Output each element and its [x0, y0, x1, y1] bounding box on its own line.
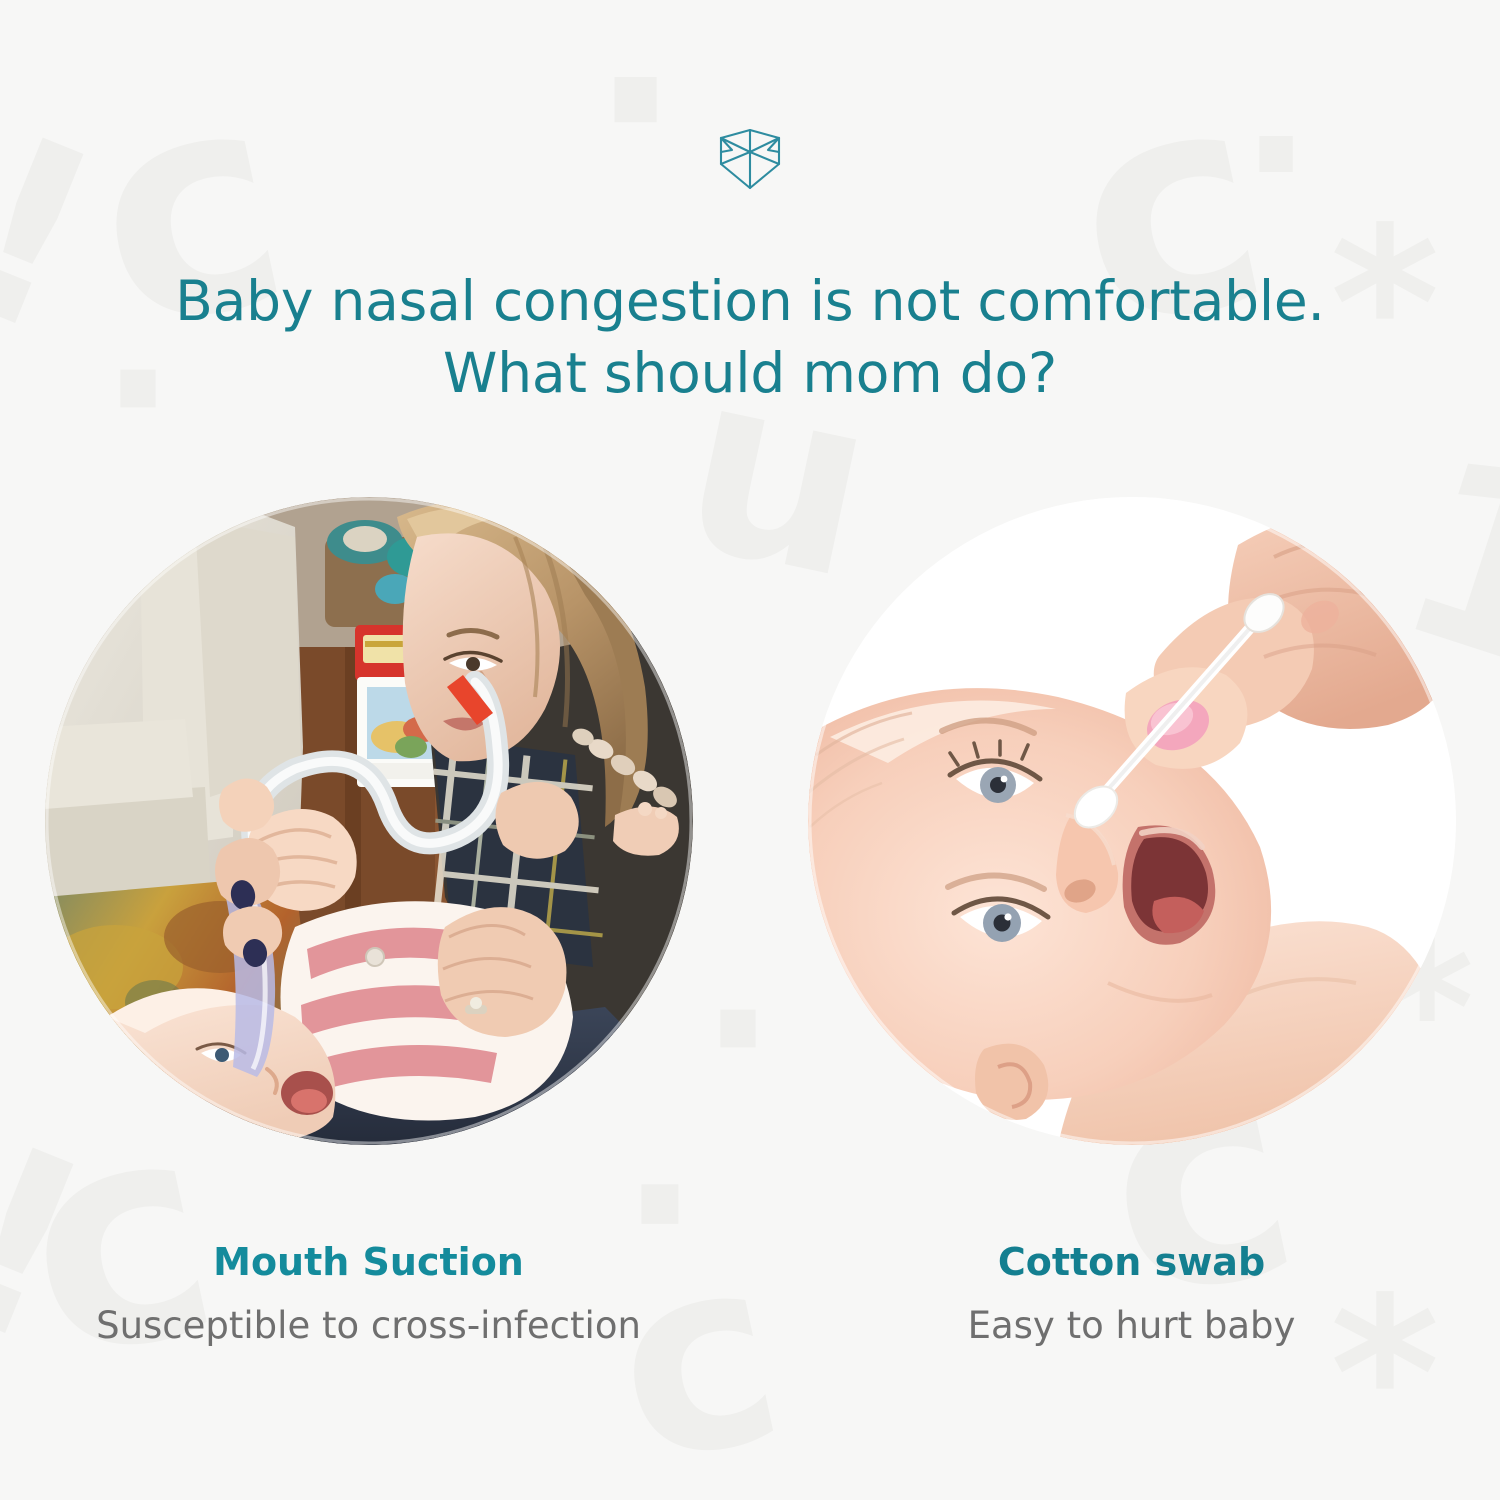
- poster-canvas: c!*c··u·1c!*c·*,·c Baby nasal congestion…: [0, 0, 1500, 1500]
- mouth-suction-photo: [45, 497, 693, 1145]
- page-headline: Baby nasal congestion is not comfortable…: [0, 265, 1500, 410]
- box-outline-logo-icon: [717, 128, 783, 194]
- option-card-mouth-suction: Mouth Suction Susceptible to cross-infec…: [45, 497, 693, 1346]
- option-title-mouth-suction: Mouth Suction: [213, 1242, 524, 1284]
- watermark-glyph: ,: [1400, 1360, 1484, 1500]
- headline-line-1: Baby nasal congestion is not comfortable…: [0, 265, 1500, 338]
- option-subtitle-cotton-swab: Easy to hurt baby: [968, 1306, 1296, 1347]
- option-title-cotton-swab: Cotton swab: [998, 1242, 1265, 1284]
- options-row: Mouth Suction Susceptible to cross-infec…: [0, 497, 1500, 1346]
- cotton-swab-photo: [808, 497, 1456, 1145]
- logo-container: [0, 128, 1500, 194]
- option-subtitle-mouth-suction: Susceptible to cross-infection: [96, 1306, 641, 1347]
- headline-line-2: What should mom do?: [0, 337, 1500, 410]
- option-card-cotton-swab: Cotton swab Easy to hurt baby: [808, 497, 1456, 1346]
